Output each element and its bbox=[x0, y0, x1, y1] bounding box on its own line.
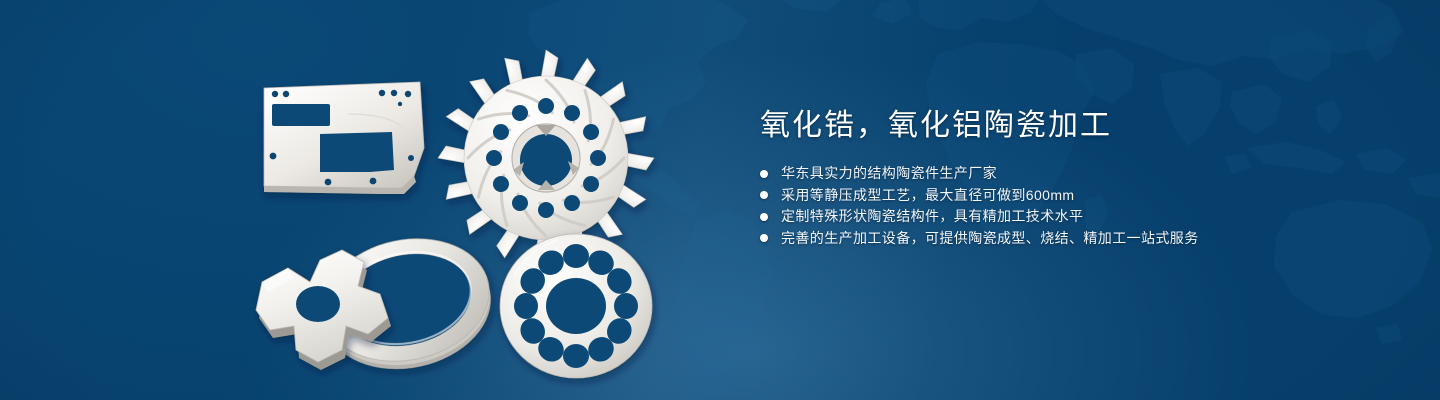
list-item: 定制特殊形状陶瓷结构件，具有精加工技术水平 bbox=[760, 206, 1320, 228]
bullet-dot-icon bbox=[760, 170, 768, 178]
feature-text: 定制特殊形状陶瓷结构件，具有精加工技术水平 bbox=[781, 206, 1083, 228]
feature-list: 华东具实力的结构陶瓷件生产厂家 采用等静压成型工艺，最大直径可做到600mm 定… bbox=[760, 163, 1320, 249]
banner-copy: 氧化锆，氧化铝陶瓷加工 华东具实力的结构陶瓷件生产厂家 采用等静压成型工艺，最大… bbox=[760, 106, 1320, 249]
bullet-dot-icon bbox=[760, 234, 768, 242]
list-item: 采用等静压成型工艺，最大直径可做到600mm bbox=[760, 185, 1320, 207]
list-item: 华东具实力的结构陶瓷件生产厂家 bbox=[760, 163, 1320, 185]
feature-text: 采用等静压成型工艺，最大直径可做到600mm bbox=[781, 185, 1074, 207]
bullet-dot-icon bbox=[760, 191, 768, 199]
list-item: 完善的生产加工设备，可提供陶瓷成型、烧结、精加工一站式服务 bbox=[760, 228, 1320, 250]
feature-text: 完善的生产加工设备，可提供陶瓷成型、烧结、精加工一站式服务 bbox=[781, 228, 1199, 250]
banner-headline: 氧化锆，氧化铝陶瓷加工 bbox=[760, 106, 1320, 146]
bullet-dot-icon bbox=[760, 213, 768, 221]
feature-text: 华东具实力的结构陶瓷件生产厂家 bbox=[781, 163, 997, 185]
promo-banner: 氧化锆，氧化铝陶瓷加工 华东具实力的结构陶瓷件生产厂家 采用等静压成型工艺，最大… bbox=[0, 0, 1440, 400]
